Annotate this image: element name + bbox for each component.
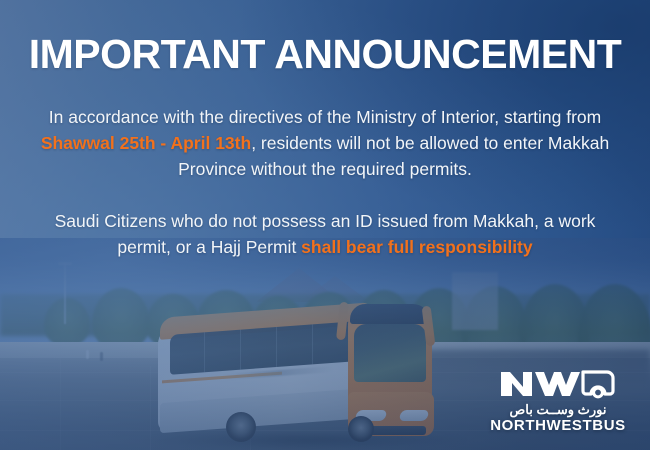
responsibility-highlight: shall bear full responsibility (301, 237, 532, 257)
paragraph-one-line-one: In accordance with the directives of the… (49, 107, 499, 127)
announcement-poster: IMPORTANT ANNOUNCEMENT In accordance wit… (0, 0, 650, 450)
page-title: IMPORTANT ANNOUNCEMENT (0, 34, 650, 75)
paragraph-one: In accordance with the directives of the… (26, 104, 624, 182)
announcement-body: In accordance with the directives of the… (26, 104, 624, 260)
northwestbus-monogram-icon (499, 365, 617, 399)
date-highlight: Shawwal 25th - April 13th (41, 133, 251, 153)
brand-logo: نورث وســت باص NORTHWESTBUS (484, 365, 632, 434)
logo-english-name: NORTHWESTBUS (484, 417, 632, 434)
paragraph-two: Saudi Citizens who do not possess an ID … (26, 208, 624, 260)
logo-arabic-name: نورث وســت باص (484, 402, 632, 417)
paragraph-one-line-two-post: , residents will not be (251, 133, 414, 153)
paragraph-two-line-one: Saudi Citizens who do not possess an ID … (55, 211, 554, 231)
paragraph-one-line-two-pre: starting from (504, 107, 601, 127)
